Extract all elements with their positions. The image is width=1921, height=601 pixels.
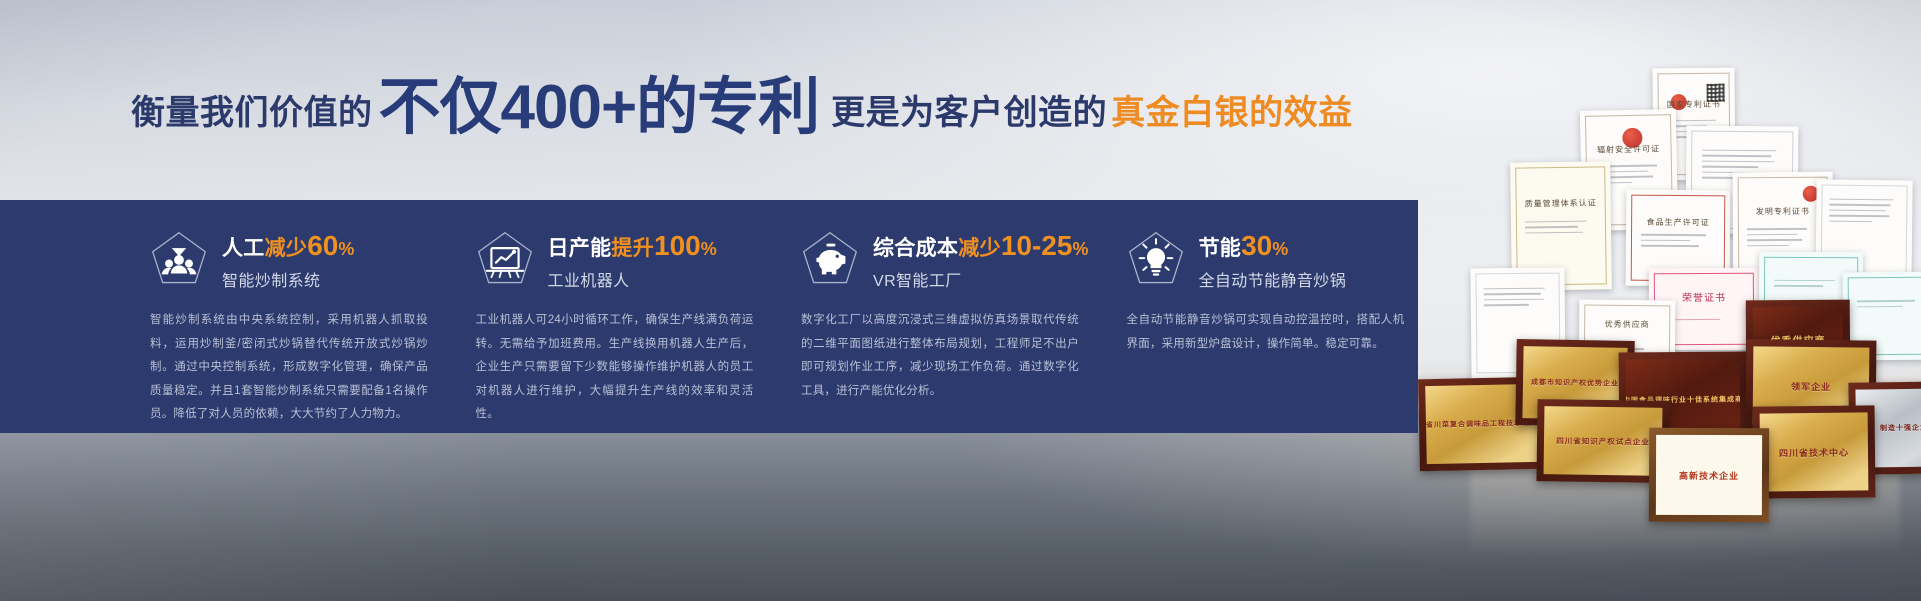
feature-title-prefix: 人工 xyxy=(222,237,265,260)
feature-card-capacity: 日产能提升100% 工业机器人 工业机器人可24小时循环工作，确保生产线满负荷运… xyxy=(476,200,768,433)
feature-title-highlight: 减少 xyxy=(265,237,308,260)
certificate-title: 优秀供应商 xyxy=(1579,318,1675,330)
feature-title-unit: % xyxy=(1072,239,1088,259)
feature-title-unit: % xyxy=(338,239,354,259)
certificate-title: 辐射安全许可证 xyxy=(1581,143,1677,156)
award-plaque-label: 领军企业 xyxy=(1791,379,1831,392)
feature-card-energy: 节能30% 全自动节能静音炒锅 全自动节能静音炒锅可实现自动控温控时，搭配人机界… xyxy=(1127,200,1419,433)
feature-title-prefix: 日产能 xyxy=(548,237,612,260)
lightbulb-pentagon-icon xyxy=(1127,230,1185,288)
feature-title: 综合成本减少10-25% xyxy=(873,230,1089,262)
people-pentagon-icon xyxy=(150,230,208,288)
award-plaque-label: 四川省技术中心 xyxy=(1779,445,1849,459)
certificate-title: 食品生产许可证 xyxy=(1626,217,1730,229)
feature-title-unit: % xyxy=(701,239,717,259)
feature-title-number: 60 xyxy=(307,230,338,261)
chart-board-pentagon-icon xyxy=(476,230,534,288)
patent-value-banner: 国家专利证书 辐射安全许可证 质量管理体系认证 食品生产许可证 发明专利证 xyxy=(0,0,1921,601)
feature-title: 日产能提升100% xyxy=(548,230,718,262)
feature-subtitle: 全自动节能静音炒锅 xyxy=(1199,267,1347,291)
award-plaque-label: 四川省知识产权试点企业 xyxy=(1556,435,1650,447)
feature-title-number: 30 xyxy=(1241,230,1272,261)
award-plaque-label: 制造十强企业 xyxy=(1880,423,1921,434)
certificate-wall: 国家专利证书 辐射安全许可证 质量管理体系认证 食品生产许可证 发明专利证 xyxy=(1361,0,1921,601)
headline-emphasis: 不仅400+的专利 xyxy=(373,79,826,138)
feature-title-number: 100 xyxy=(654,230,701,261)
feature-title-prefix: 综合成本 xyxy=(873,237,958,260)
award-plaque: 高新技术企业 xyxy=(1649,428,1769,522)
feature-body: 全自动节能静音炒锅可实现自动控温控时，搭配人机界面，采用新型炉盘设计，操作简单。… xyxy=(1127,309,1405,356)
feature-subtitle: 工业机器人 xyxy=(548,267,718,291)
headline: 衡量我们价值的 不仅400+的专利 更是为客户创造的 真金白银的效益 xyxy=(131,75,1353,134)
feature-subtitle: VR智能工厂 xyxy=(873,267,1089,291)
feature-body: 工业机器人可24小时循环工作，确保生产线满负荷运转。无需给予加班费用。生产线换用… xyxy=(476,309,754,427)
award-plaque-label: 高新技术企业 xyxy=(1679,468,1739,481)
feature-title-prefix: 节能 xyxy=(1199,237,1242,260)
headline-middle: 更是为客户创造的 xyxy=(825,85,1107,134)
feature-title-highlight: 提升 xyxy=(611,237,654,260)
feature-title: 人工减少60% xyxy=(222,230,355,262)
feature-title-highlight: 减少 xyxy=(958,237,1001,260)
headline-accent: 真金白银的效益 xyxy=(1107,85,1353,134)
feature-body: 智能炒制系统由中央系统控制，采用机器人抓取投料，运用炒制釜/密闭式炒锅替代传统开… xyxy=(150,309,428,427)
award-plaque: 四川省技术中心 xyxy=(1753,405,1876,498)
headline-prefix: 衡量我们价值的 xyxy=(131,85,373,134)
features-panel: 人工减少60% 智能炒制系统 智能炒制系统由中央系统控制，采用机器人抓取投料，运… xyxy=(0,200,1418,433)
feature-subtitle: 智能炒制系统 xyxy=(222,267,355,291)
feature-title-number: 10-25 xyxy=(1001,230,1073,261)
piggy-bank-pentagon-icon xyxy=(801,230,859,288)
feature-title-unit: % xyxy=(1272,239,1288,259)
feature-body: 数字化工厂以高度沉浸式三维虚拟仿真场景取代传统的二维平面图纸进行整体布局规划，工… xyxy=(801,309,1079,403)
award-plaque-label: 成都市知识产权优势企业 xyxy=(1531,377,1619,389)
feature-title: 节能30% xyxy=(1199,230,1347,262)
feature-card-cost: 综合成本减少10-25% VR智能工厂 数字化工厂以高度沉浸式三维虚拟仿真场景取… xyxy=(801,200,1093,433)
feature-card-labor: 人工减少60% 智能炒制系统 智能炒制系统由中央系统控制，采用机器人抓取投料，运… xyxy=(150,200,442,433)
certificate-title: 质量管理体系认证 xyxy=(1511,197,1611,209)
